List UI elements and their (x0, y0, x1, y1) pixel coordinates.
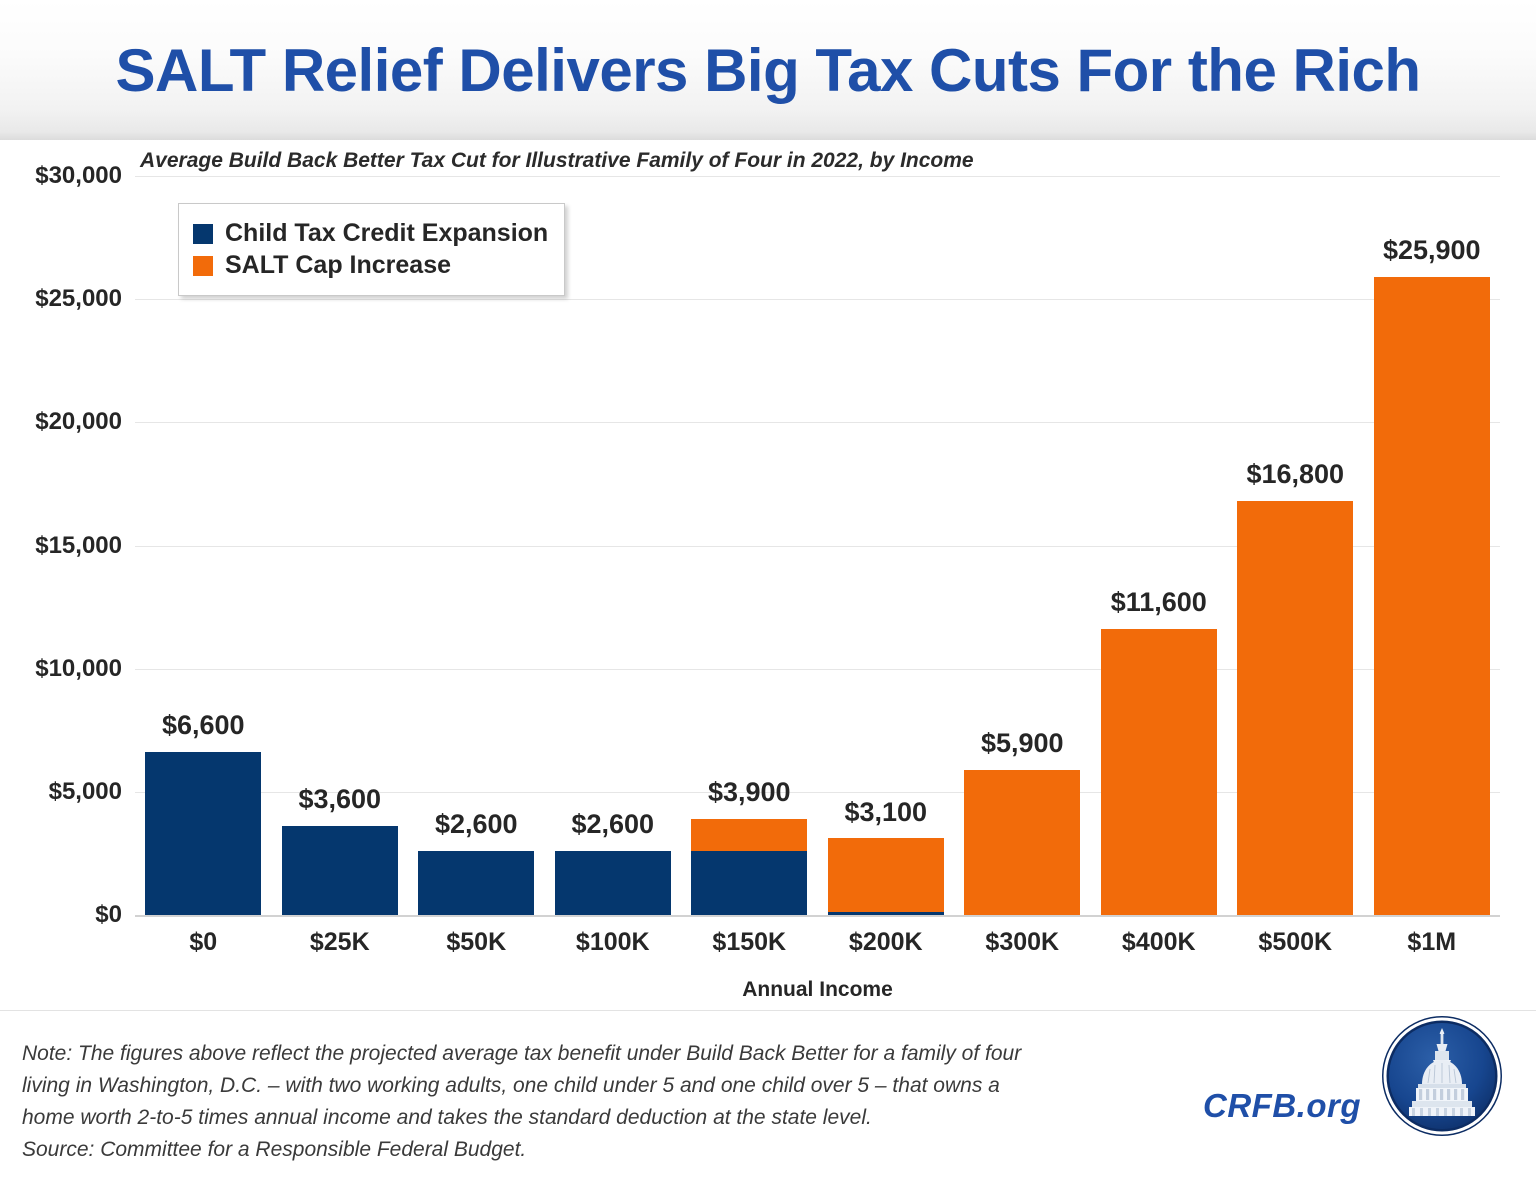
bar-0[interactable] (145, 752, 261, 915)
x-axis-tick-label: $500K (1258, 928, 1332, 957)
x-axis-tick-label: $100K (576, 928, 650, 957)
x-axis-title: Annual Income (135, 978, 1500, 1002)
gridline (135, 299, 1500, 300)
bar-value-label: $2,600 (435, 809, 518, 840)
legend-item-salt-cap-increase: SALT Cap Increase (193, 251, 548, 280)
bar-segment-child-tax-credit[interactable] (691, 851, 807, 915)
x-axis-line (135, 915, 1500, 917)
bar-400k[interactable] (1101, 629, 1217, 915)
page-title: SALT Relief Delivers Big Tax Cuts For th… (0, 36, 1536, 105)
bar-value-label: $16,800 (1246, 459, 1344, 490)
x-axis-labels: $0$25K$50K$100K$150K$200K$300K$400K$500K… (135, 928, 1500, 968)
bar-300k[interactable] (964, 770, 1080, 915)
bar-value-label: $6,600 (162, 710, 245, 741)
gridline (135, 422, 1500, 423)
legend-label: SALT Cap Increase (225, 251, 451, 280)
source-line: Source: Committee for a Responsible Fede… (22, 1134, 1162, 1166)
note-line: living in Washington, D.C. – with two wo… (22, 1070, 1162, 1102)
bar-segment-child-tax-credit[interactable] (282, 826, 398, 915)
note-text: Note: The figures above reflect the proj… (22, 1038, 1162, 1166)
note-line: Note: The figures above reflect the proj… (22, 1038, 1162, 1070)
note-line: home worth 2-to-5 times annual income an… (22, 1102, 1162, 1134)
legend-item-child-tax-credit-expansion: Child Tax Credit Expansion (193, 219, 548, 248)
y-axis-tick-label: $20,000 (35, 408, 122, 436)
x-axis-tick-label: $300K (985, 928, 1059, 957)
legend-swatch-navy-icon (193, 224, 213, 244)
bar-value-label: $25,900 (1383, 235, 1481, 266)
bar-value-label: $11,600 (1111, 587, 1207, 618)
bar-segment-salt-cap-increase[interactable] (1101, 629, 1217, 915)
bar-1m[interactable] (1374, 277, 1490, 915)
bar-segment-salt-cap-increase[interactable] (964, 770, 1080, 915)
chart-legend: Child Tax Credit Expansion SALT Cap Incr… (178, 203, 565, 296)
bar-25k[interactable] (282, 826, 398, 915)
x-axis-tick-label: $200K (849, 928, 923, 957)
y-axis-tick-label: $25,000 (35, 285, 122, 313)
y-axis-tick-label: $10,000 (35, 655, 122, 683)
x-axis-tick-label: $25K (310, 928, 370, 957)
chart-subtitle: Average Build Back Better Tax Cut for Il… (140, 149, 974, 173)
bar-value-label: $3,900 (708, 777, 791, 808)
bar-100k[interactable] (555, 851, 671, 915)
bar-200k[interactable] (828, 838, 944, 915)
y-axis-labels: $0$5,000$10,000$15,000$20,000$25,000$30,… (0, 176, 122, 915)
footer-divider (0, 1010, 1536, 1011)
y-axis-tick-label: $30,000 (35, 162, 122, 190)
y-axis-tick-label: $15,000 (35, 532, 122, 560)
bar-segment-salt-cap-increase[interactable] (828, 838, 944, 912)
legend-swatch-orange-icon (193, 256, 213, 276)
bar-segment-child-tax-credit[interactable] (418, 851, 534, 915)
bar-value-label: $2,600 (571, 809, 654, 840)
bar-value-label: $5,900 (981, 728, 1064, 759)
y-axis-tick-label: $0 (95, 901, 122, 929)
x-axis-tick-label: $400K (1122, 928, 1196, 957)
bar-segment-salt-cap-increase[interactable] (1237, 501, 1353, 915)
bar-segment-child-tax-credit[interactable] (145, 752, 261, 915)
bar-500k[interactable] (1237, 501, 1353, 915)
capitol-dome-logo-icon (1380, 1014, 1504, 1138)
bar-segment-child-tax-credit[interactable] (555, 851, 671, 915)
y-axis-tick-label: $5,000 (49, 778, 122, 806)
x-axis-tick-label: $0 (189, 928, 217, 957)
chart-container: Average Build Back Better Tax Cut for Il… (0, 140, 1536, 1010)
bar-value-label: $3,100 (844, 797, 927, 828)
x-axis-tick-label: $150K (712, 928, 786, 957)
gridline (135, 176, 1500, 177)
crfb-wordmark[interactable]: CRFB.org (1203, 1087, 1361, 1125)
bar-value-label: $3,600 (298, 784, 381, 815)
x-axis-tick-label: $50K (446, 928, 506, 957)
bar-50k[interactable] (418, 851, 534, 915)
bar-150k[interactable] (691, 819, 807, 915)
bar-segment-salt-cap-increase[interactable] (691, 819, 807, 851)
bar-segment-salt-cap-increase[interactable] (1374, 277, 1490, 915)
legend-label: Child Tax Credit Expansion (225, 219, 548, 248)
x-axis-tick-label: $1M (1407, 928, 1456, 957)
